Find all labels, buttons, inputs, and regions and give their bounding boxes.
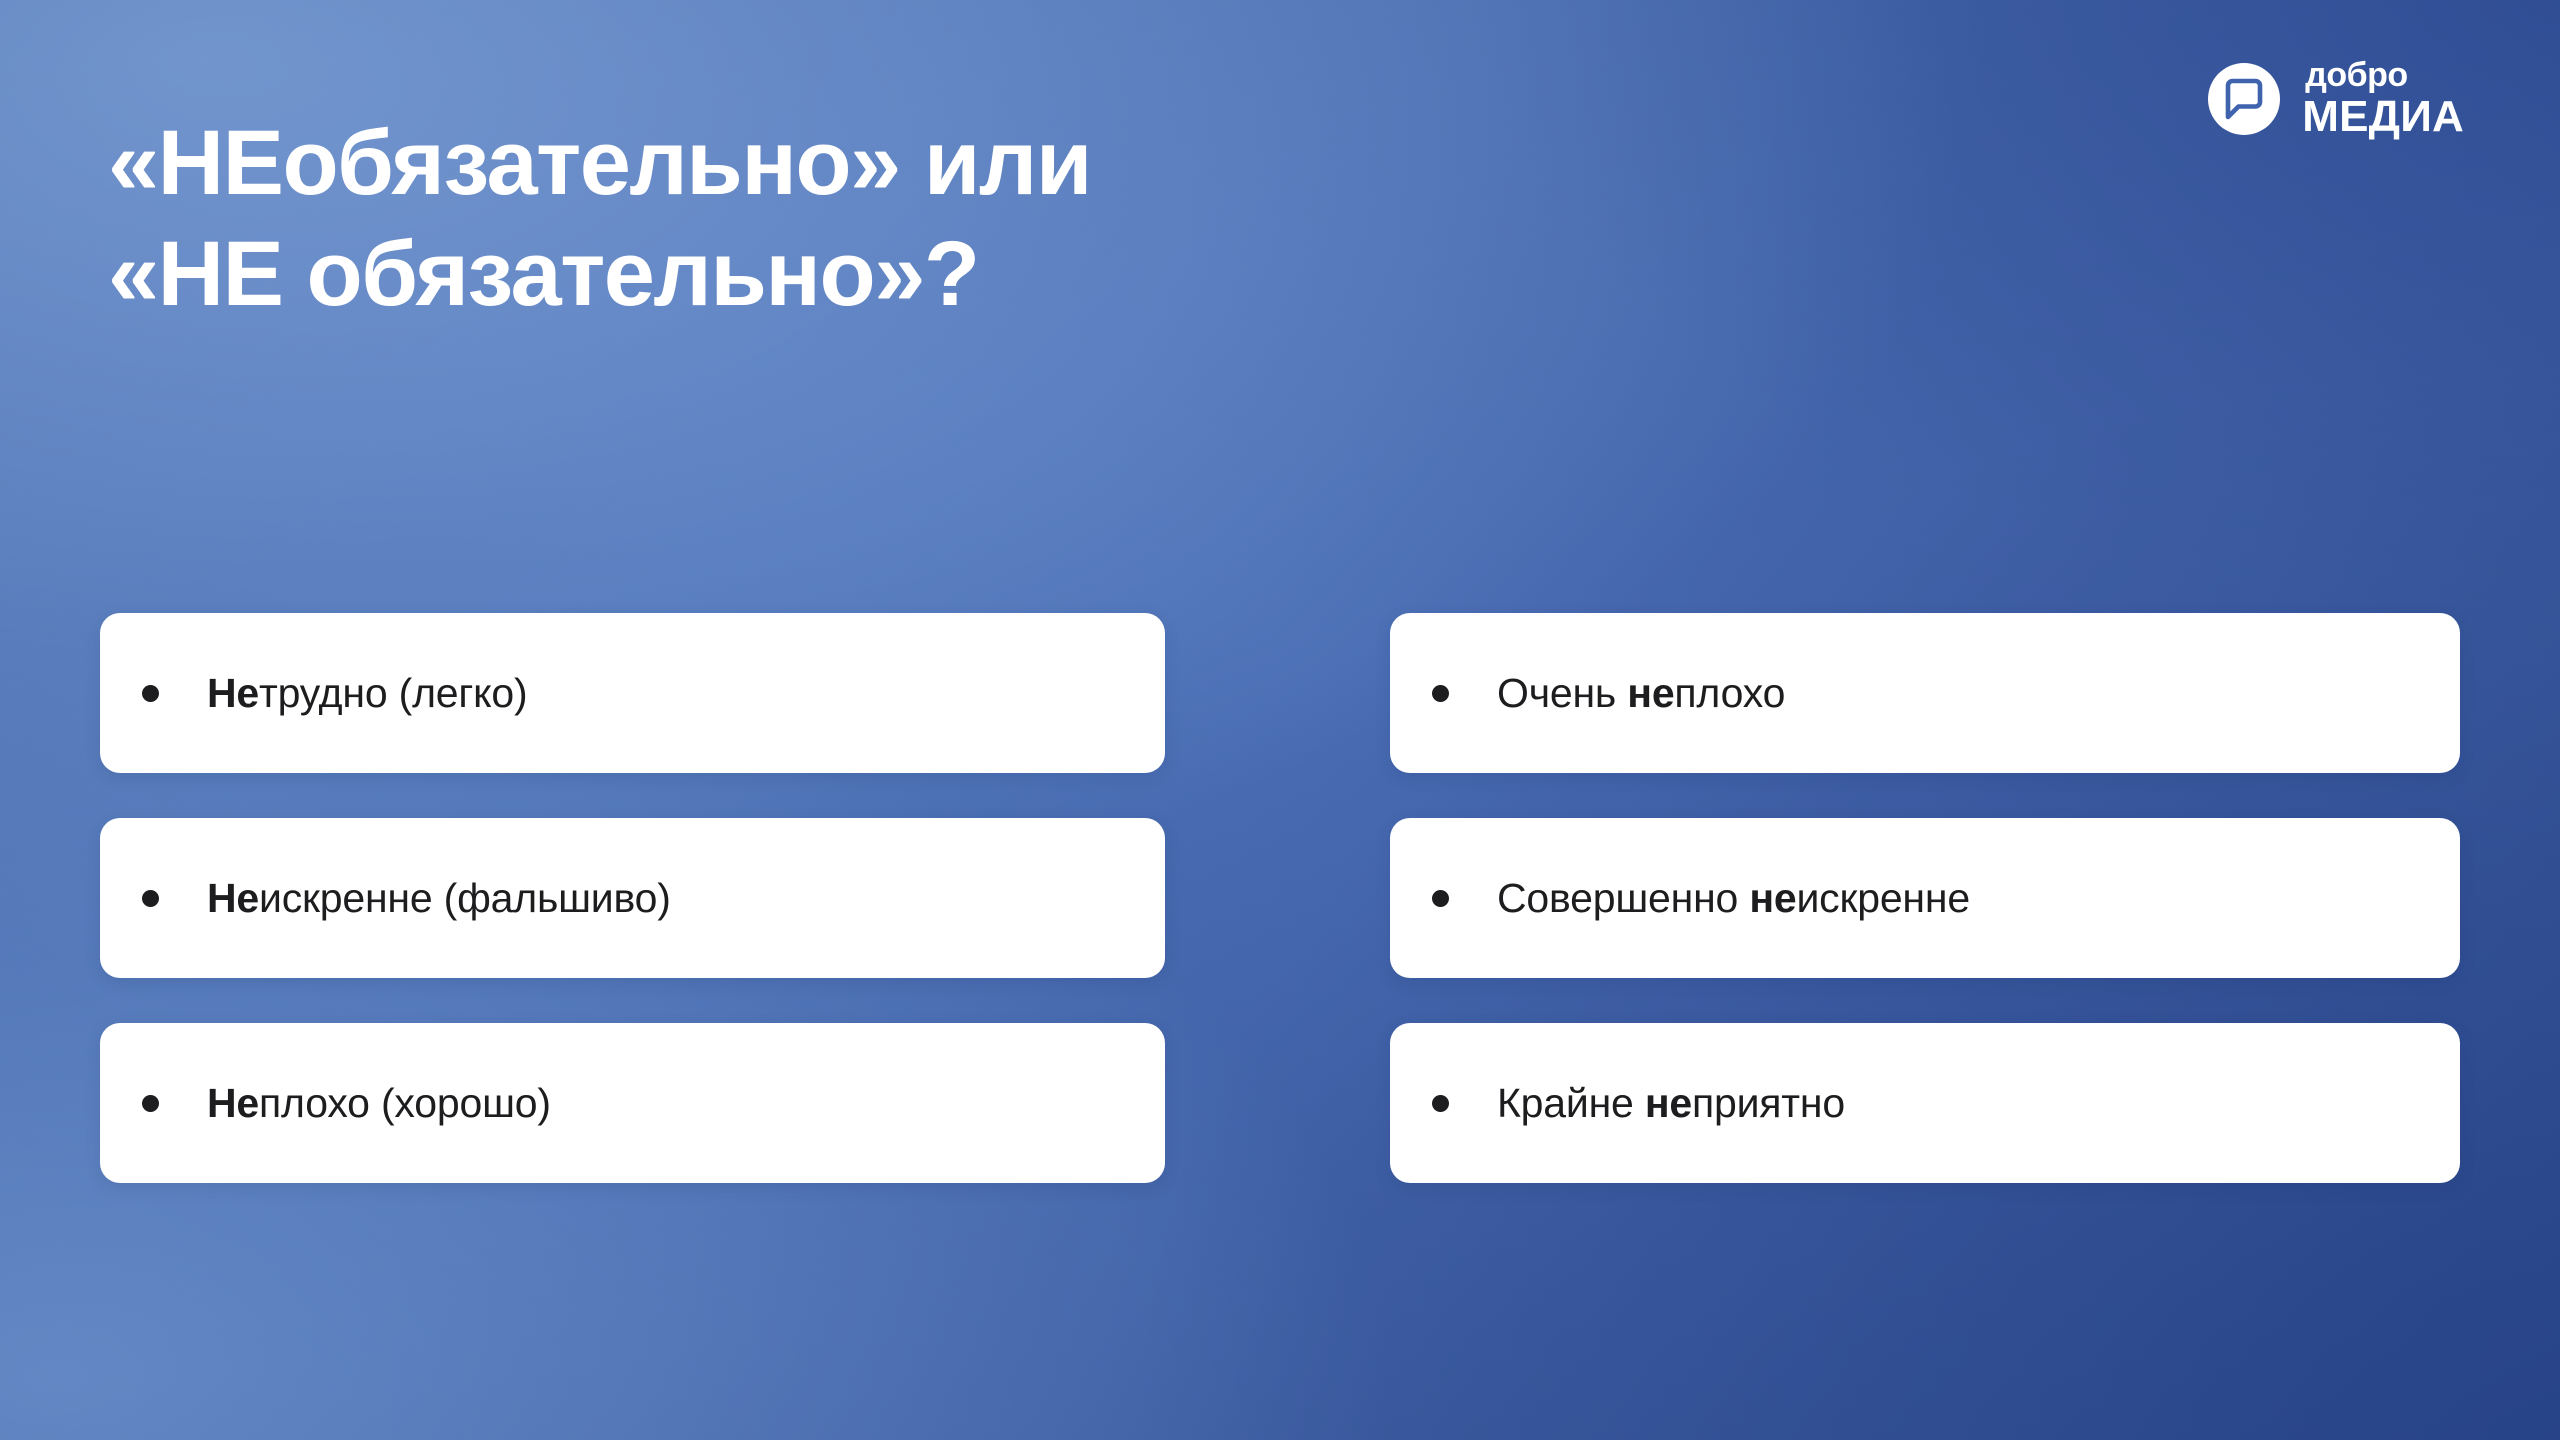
list-item-label: Неплохо (хорошо) [207,1080,551,1127]
plain-rest: искренне [1796,875,1969,921]
page-title-line-1: «НЕобязательно» или [108,108,1091,219]
bold-prefix: не [1645,1080,1692,1126]
list-item: Неискренне (фальшиво) [100,818,1165,978]
bold-prefix: Не [207,1080,259,1126]
lead-text: Совершенно [1497,875,1749,921]
brand-logo: добро МЕДИА [2208,58,2464,139]
plain-rest: трудно (легко) [259,670,527,716]
list-item: Крайне неприятно [1390,1023,2460,1183]
bullet-dot-icon [1432,1095,1449,1112]
bold-prefix: Не [207,670,259,716]
list-item-label: Очень неплохо [1497,670,1785,717]
page-title-line-2: «НЕ обязательно»? [108,219,1091,330]
plain-rest: приятно [1692,1080,1845,1126]
plain-rest: искренне (фальшиво) [259,875,671,921]
bullet-dot-icon [142,685,159,702]
list-item-label: Крайне неприятно [1497,1080,1845,1127]
bold-prefix: не [1627,670,1674,716]
bold-prefix: не [1749,875,1796,921]
list-item-label: Неискренне (фальшиво) [207,875,671,922]
examples-grid: Нетрудно (легко) Очень неплохо Неискренн… [100,613,2460,1183]
list-item-label: Нетрудно (легко) [207,670,527,717]
page-title: «НЕобязательно» или «НЕ обязательно»? [108,108,1091,331]
bold-prefix: Не [207,875,259,921]
list-item: Неплохо (хорошо) [100,1023,1165,1183]
list-item-label: Совершенно неискренне [1497,875,1970,922]
bullet-dot-icon [142,1095,159,1112]
bullet-dot-icon [142,890,159,907]
plain-rest: плохо [1674,670,1785,716]
logo-wordmark: добро МЕДИА [2302,58,2464,139]
logo-word-media: МЕДИА [2302,95,2464,139]
plain-rest: плохо (хорошо) [259,1080,551,1126]
lead-text: Очень [1497,670,1627,716]
list-item: Нетрудно (легко) [100,613,1165,773]
list-item: Совершенно неискренне [1390,818,2460,978]
speech-bubble-icon [2208,63,2280,135]
list-item: Очень неплохо [1390,613,2460,773]
logo-word-dobro: добро [2305,58,2464,92]
bullet-dot-icon [1432,685,1449,702]
lead-text: Крайне [1497,1080,1645,1126]
bullet-dot-icon [1432,890,1449,907]
